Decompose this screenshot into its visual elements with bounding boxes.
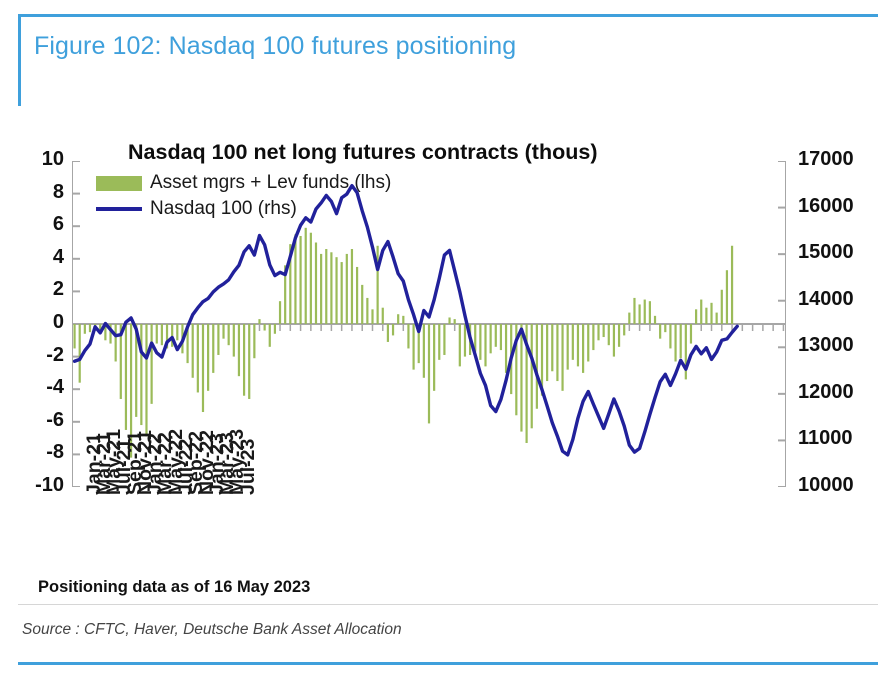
right-axis-tick: 14000	[798, 288, 888, 311]
source-divider	[18, 604, 878, 605]
left-axis-tick: -2	[12, 344, 64, 367]
left-axis-tick: -10	[12, 474, 64, 497]
right-axis-tick: 15000	[798, 241, 888, 264]
left-axis-tick: -6	[12, 409, 64, 432]
left-axis-tick: 2	[12, 278, 64, 301]
brand-rule-bottom	[18, 662, 878, 665]
left-axis-tick: 8	[12, 181, 64, 204]
brand-rule-left	[18, 14, 21, 106]
figure-page: Figure 102: Nasdaq 100 futures positioni…	[0, 0, 890, 680]
left-axis-tick: -4	[12, 376, 64, 399]
right-axis-tick: 11000	[798, 427, 888, 450]
x-axis-tick: Jul-23	[237, 439, 260, 495]
right-axis-tick: 12000	[798, 381, 888, 404]
right-axis-tick: 13000	[798, 334, 888, 357]
right-axis-tick: 16000	[798, 195, 888, 218]
left-axis-tick: 4	[12, 246, 64, 269]
figure-title: Figure 102: Nasdaq 100 futures positioni…	[34, 32, 516, 61]
as-of-note: Positioning data as of 16 May 2023	[38, 578, 310, 597]
left-axis-tick: 6	[12, 213, 64, 236]
source-note: Source : CFTC, Haver, Deutsche Bank Asse…	[22, 621, 402, 639]
brand-rule-top	[18, 14, 878, 17]
left-axis-tick: -8	[12, 441, 64, 464]
right-axis-tick: 17000	[798, 148, 888, 171]
right-axis-tick: 10000	[798, 474, 888, 497]
left-axis-tick: 10	[12, 148, 64, 171]
left-axis-tick: 0	[12, 311, 64, 334]
